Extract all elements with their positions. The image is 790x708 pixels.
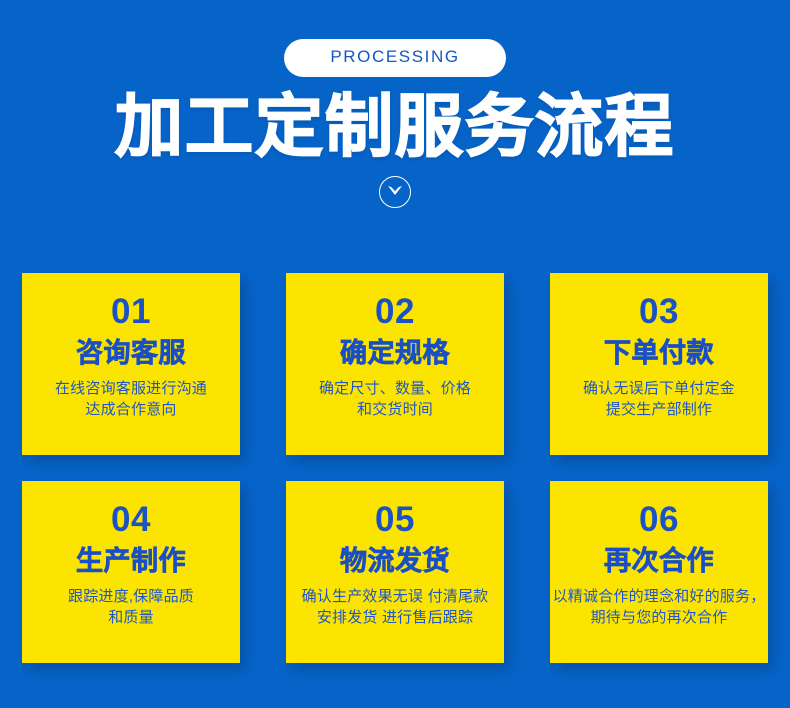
step-description: 确定尺寸、数量、价格 和交货时间 bbox=[313, 378, 477, 421]
step-card-05: 05 物流发货 确认生产效果无误 付清尾款 安排发货 进行售后跟踪 bbox=[286, 481, 504, 663]
step-card-02: 02 确定规格 确定尺寸、数量、价格 和交货时间 bbox=[286, 273, 504, 455]
step-description-line-1: 跟踪进度,保障品质 bbox=[68, 586, 194, 607]
step-card-01: 01 咨询客服 在线咨询客服进行沟通 达成合作意向 bbox=[22, 273, 240, 455]
process-step-grid: 01 咨询客服 在线咨询客服进行沟通 达成合作意向 02 确定规格 确定尺寸、数… bbox=[22, 273, 768, 663]
step-number: 04 bbox=[111, 501, 151, 540]
step-description-line-2: 提交生产部制作 bbox=[583, 399, 735, 420]
step-description-line-2: 和交货时间 bbox=[319, 399, 471, 420]
step-heading: 下单付款 bbox=[604, 338, 714, 369]
step-card-03: 03 下单付款 确认无误后下单付定金 提交生产部制作 bbox=[550, 273, 768, 455]
page-title: 加工定制服务流程 bbox=[0, 93, 790, 162]
step-description-line-1: 确认生产效果无误 付清尾款 bbox=[302, 586, 489, 607]
chevron-down-wrapper bbox=[0, 176, 790, 208]
step-description-line-2: 和质量 bbox=[68, 607, 194, 628]
step-description: 确认生产效果无误 付清尾款 安排发货 进行售后跟踪 bbox=[296, 586, 495, 629]
step-heading: 再次合作 bbox=[604, 546, 714, 577]
step-card-04: 04 生产制作 跟踪进度,保障品质 和质量 bbox=[22, 481, 240, 663]
step-description-line-1: 在线咨询客服进行沟通 bbox=[55, 378, 207, 399]
step-description: 跟踪进度,保障品质 和质量 bbox=[62, 586, 200, 629]
step-card-06: 06 再次合作 以精诚合作的理念和好的服务， 期待与您的再次合作 bbox=[550, 481, 768, 663]
step-description: 确认无误后下单付定金 提交生产部制作 bbox=[577, 378, 741, 421]
chevron-down-icon bbox=[387, 183, 403, 201]
step-description-line-2: 期待与您的再次合作 bbox=[553, 607, 766, 628]
step-number: 06 bbox=[639, 501, 679, 540]
step-heading: 确定规格 bbox=[340, 338, 450, 369]
processing-flow-banner: PROCESSING 加工定制服务流程 01 咨询客服 在线咨询客服进行沟通 达… bbox=[0, 0, 790, 708]
step-number: 01 bbox=[111, 293, 151, 332]
step-heading: 生产制作 bbox=[76, 546, 186, 577]
step-number: 02 bbox=[375, 293, 415, 332]
step-heading: 物流发货 bbox=[340, 546, 450, 577]
processing-badge: PROCESSING bbox=[284, 39, 505, 77]
step-description-line-1: 以精诚合作的理念和好的服务， bbox=[553, 586, 766, 607]
step-number: 03 bbox=[639, 293, 679, 332]
step-description-line-2: 达成合作意向 bbox=[55, 399, 207, 420]
step-description-line-2: 安排发货 进行售后跟踪 bbox=[302, 607, 489, 628]
step-description: 以精诚合作的理念和好的服务， 期待与您的再次合作 bbox=[547, 586, 772, 629]
step-heading: 咨询客服 bbox=[76, 338, 186, 369]
step-number: 05 bbox=[375, 501, 415, 540]
step-description-line-1: 确定尺寸、数量、价格 bbox=[319, 378, 471, 399]
chevron-down-circle bbox=[379, 176, 411, 208]
step-description-line-1: 确认无误后下单付定金 bbox=[583, 378, 735, 399]
banner-header: PROCESSING 加工定制服务流程 bbox=[0, 0, 790, 208]
step-description: 在线咨询客服进行沟通 达成合作意向 bbox=[49, 378, 213, 421]
